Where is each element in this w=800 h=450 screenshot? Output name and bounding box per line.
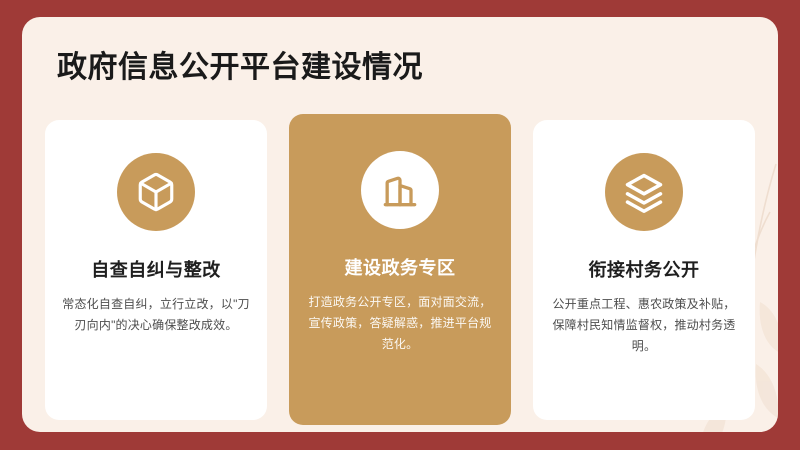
card-title: 自查自纠与整改: [91, 259, 221, 282]
card-description: 公开重点工程、惠农政策及补贴，保障村民知情监督权，推动村务透明。: [549, 294, 739, 357]
card-description: 常态化自查自纠，立行立改，以"刀刃向内"的决心确保整改成效。: [61, 294, 251, 336]
content-panel: 政府信息公开平台建设情况 自查自纠与整改 常态化自查自纠，立行立改，以"刀刃向内…: [22, 17, 778, 432]
buildings-icon: [378, 168, 422, 212]
layers-icon: [622, 170, 666, 214]
card-row: 自查自纠与整改 常态化自查自纠，立行立改，以"刀刃向内"的决心确保整改成效。 建…: [22, 114, 778, 426]
buildings-icon-badge: [361, 151, 439, 229]
cube-icon-badge: [117, 153, 195, 231]
feature-card-government-zone[interactable]: 建设政务专区 打造政务公开专区，面对面交流，宣传政策，答疑解惑，推进平台规范化。: [289, 114, 511, 425]
feature-card-self-inspection[interactable]: 自查自纠与整改 常态化自查自纠，立行立改，以"刀刃向内"的决心确保整改成效。: [45, 120, 267, 420]
layers-icon-badge: [605, 153, 683, 231]
card-description: 打造政务公开专区，面对面交流，宣传政策，答疑解惑，推进平台规范化。: [305, 292, 495, 355]
card-title: 建设政务专区: [345, 257, 456, 280]
feature-card-village-affairs[interactable]: 衔接村务公开 公开重点工程、惠农政策及补贴，保障村民知情监督权，推动村务透明。: [533, 120, 755, 420]
cube-icon: [135, 171, 177, 213]
card-title: 衔接村务公开: [589, 259, 700, 282]
page-title: 政府信息公开平台建设情况: [57, 49, 423, 87]
